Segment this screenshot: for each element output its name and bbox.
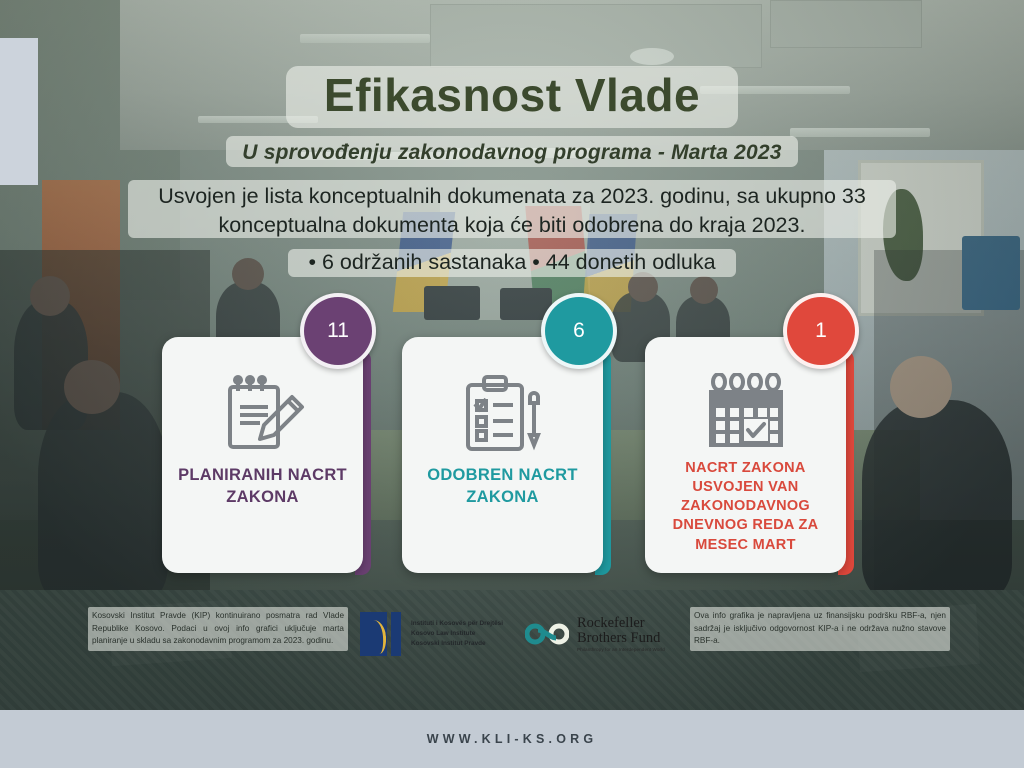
stat-badge-number-3: 1 xyxy=(815,319,827,343)
kli-logo-mark xyxy=(360,612,404,656)
rbf-logo-line-1: Rockefeller xyxy=(577,616,665,631)
stat-badge-2: 6 xyxy=(541,293,617,369)
stat-card-caption-1: PLANIRANIH NACRT ZAKONA xyxy=(174,465,351,509)
page-subtitle: U sprovođenju zakonodavnog programa - Ma… xyxy=(0,141,1024,165)
infographic-canvas: Efikasnost Vlade U sprovođenju zakonodav… xyxy=(0,0,1024,768)
rbf-logo[interactable]: Rockefeller Brothers Fund Philanthropy f… xyxy=(525,616,665,652)
calendar-check-icon xyxy=(645,373,846,451)
clipboard-checklist-pen-icon xyxy=(402,373,603,455)
stat-badge-number-1: 11 xyxy=(327,319,349,343)
intro-line-1: Usvojen je lista konceptualnih dokumenat… xyxy=(0,183,1024,210)
kli-logo-line-3: Kosovski Institut Pravde xyxy=(411,639,503,649)
rbf-logo-mark xyxy=(525,619,569,649)
stat-badge-number-2: 6 xyxy=(573,319,585,343)
rbf-logo-text: Rockefeller Brothers Fund Philanthropy f… xyxy=(577,616,665,652)
intro-bullets: • 6 održanih sastanaka • 44 donetih odlu… xyxy=(0,250,1024,275)
intro-line-2: konceptualna dokumenta koja će biti odob… xyxy=(0,212,1024,239)
rbf-logo-tagline: Philanthropy for an Interdependent World xyxy=(577,647,665,652)
kli-logo-text: Instituti i Kosovës për Drejtësi Kosovo … xyxy=(411,619,503,648)
stat-badge-1: 11 xyxy=(300,293,376,369)
partner-logos: Instituti i Kosovës për Drejtësi Kosovo … xyxy=(360,608,680,660)
website-bar: WWW.KLI-KS.ORG xyxy=(0,710,1024,768)
kli-logo-line-2: Kosovo Law Institute xyxy=(411,629,503,639)
kli-logo[interactable]: Instituti i Kosovës për Drejtësi Kosovo … xyxy=(360,612,503,656)
website-url[interactable]: WWW.KLI-KS.ORG xyxy=(427,732,598,746)
stat-card-outside-agenda[interactable]: NACRT ZAKONA USVOJEN VAN ZAKONODAVNOG DN… xyxy=(645,337,846,573)
notepad-pencil-icon xyxy=(162,373,363,455)
footer-note-right: Ova info grafika je napravljena uz finan… xyxy=(690,607,950,651)
footer-note-left: Kosovski Institut Pravde (KIP) kontinuir… xyxy=(88,607,348,651)
rbf-logo-line-2: Brothers Fund xyxy=(577,631,665,646)
stat-card-caption-3: NACRT ZAKONA USVOJEN VAN ZAKONODAVNOG DN… xyxy=(657,459,834,555)
stat-card-caption-2: ODOBREN NACRT ZAKONA xyxy=(414,465,591,509)
stat-card-approved-draft-laws[interactable]: ODOBREN NACRT ZAKONA xyxy=(402,337,603,573)
page-title: Efikasnost Vlade xyxy=(0,70,1024,121)
stat-badge-3: 1 xyxy=(783,293,859,369)
kli-logo-line-1: Instituti i Kosovës për Drejtësi xyxy=(411,619,503,629)
stat-card-planned-draft-laws[interactable]: PLANIRANIH NACRT ZAKONA xyxy=(162,337,363,573)
